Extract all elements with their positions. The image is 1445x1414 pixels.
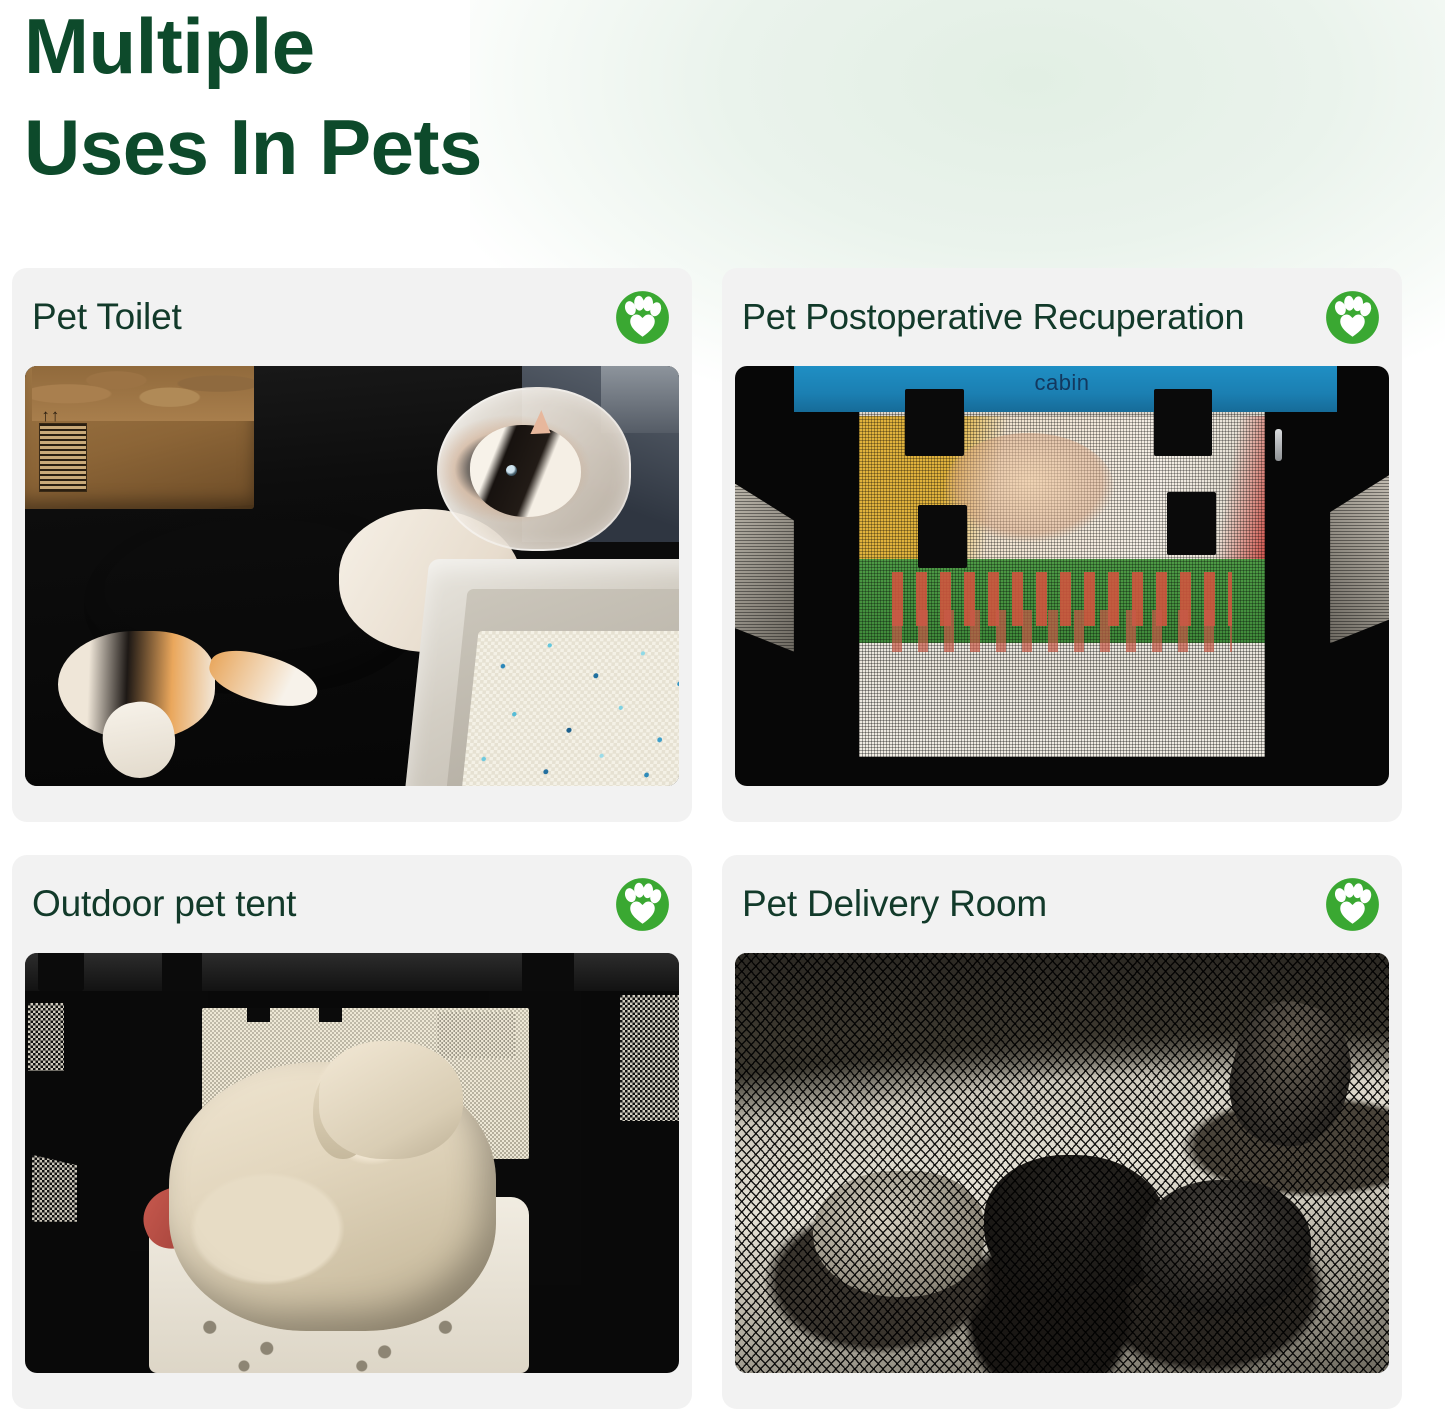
photo-pet-toilet: ↑↑ — [25, 366, 679, 786]
card-title-pet-toilet: Pet Toilet — [32, 298, 182, 337]
use-case-card-pet-delivery-room[interactable]: Pet Delivery Room — [722, 855, 1402, 1409]
photo-outdoor-pet-tent — [25, 953, 679, 1373]
use-case-card-pet-toilet[interactable]: Pet Toilet ↑↑ — [12, 268, 692, 822]
page-title: Multiple Uses In Pets — [24, 0, 784, 199]
paw-icon — [1325, 877, 1380, 932]
card-title-pet-delivery-room: Pet Delivery Room — [742, 885, 1047, 924]
card-header: Pet Delivery Room — [722, 855, 1402, 953]
card-title-outdoor-pet-tent: Outdoor pet tent — [32, 885, 296, 924]
paw-icon — [1325, 290, 1380, 345]
use-case-card-pet-postoperative-recuperation[interactable]: Pet Postoperative Recuperation cabin — [722, 268, 1402, 822]
photo-pet-postoperative-recuperation: cabin — [735, 366, 1389, 786]
use-case-card-outdoor-pet-tent[interactable]: Outdoor pet tent — [12, 855, 692, 1409]
photo-pet-delivery-room — [735, 953, 1389, 1373]
carrier-brand-text: cabin — [735, 370, 1389, 396]
paw-icon — [615, 877, 670, 932]
card-header: Outdoor pet tent — [12, 855, 692, 953]
paw-icon — [615, 290, 670, 345]
card-header: Pet Toilet — [12, 268, 692, 366]
use-case-grid: Pet Toilet ↑↑ Pet Postoperative Recupera… — [12, 268, 1433, 1409]
card-header: Pet Postoperative Recuperation — [722, 268, 1402, 366]
card-title-pet-postoperative-recuperation: Pet Postoperative Recuperation — [742, 298, 1244, 336]
